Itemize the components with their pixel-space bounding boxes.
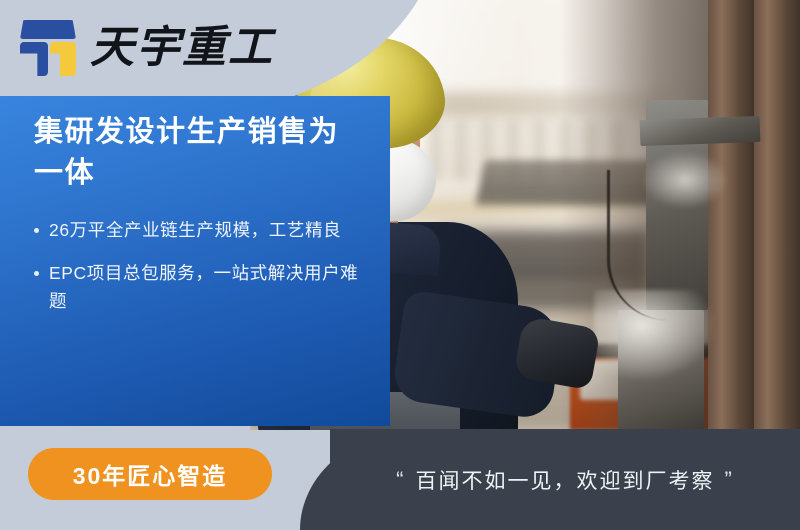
feature-text: EPC项目总包服务，一站式解决用户难题 — [49, 259, 364, 316]
logo-right-stem — [50, 42, 76, 76]
footer-quote: “ 百闻不如一见，欢迎到厂考察 ” — [330, 429, 800, 530]
feature-text: 26万平全产业链生产规模，工艺精良 — [49, 216, 364, 244]
quote-open-icon: “ — [396, 469, 405, 491]
brand-logo[interactable]: 天宇重工 — [16, 18, 274, 78]
machine-post-left — [708, 0, 754, 430]
status-badge[interactable]: 30年匠心智造 — [28, 448, 272, 500]
machine-plate-bracket — [640, 116, 761, 146]
badge-label: 30年匠心智造 — [73, 457, 228, 491]
feature-list: 26万平全产业链生产规模，工艺精良 EPC项目总包服务，一站式解决用户难题 — [34, 216, 364, 315]
logo-top-bar — [20, 20, 76, 39]
promotional-banner: 天宇重工 集研发设计生产销售为一体 26万平全产业链生产规模，工艺精良 EPC项… — [0, 0, 800, 530]
machine-post-right — [754, 0, 800, 430]
panel-content: 集研发设计生产销售为一体 26万平全产业链生产规模，工艺精良 EPC项目总包服务… — [34, 112, 364, 329]
quote-close-icon: ” — [725, 469, 734, 491]
brand-name: 天宇重工 — [90, 26, 274, 70]
headline: 集研发设计生产销售为一体 — [34, 112, 364, 194]
list-item: EPC项目总包服务，一站式解决用户难题 — [34, 259, 364, 316]
list-item: 26万平全产业链生产规模，工艺精良 — [34, 216, 364, 244]
bullet-dot-icon — [34, 228, 39, 233]
bullet-dot-icon — [34, 271, 39, 276]
tianyu-t-logo-icon — [16, 18, 78, 78]
logo-left-stem — [20, 42, 48, 76]
machine-column — [560, 0, 800, 430]
quote-text: 百闻不如一见，欢迎到厂考察 — [416, 465, 715, 495]
